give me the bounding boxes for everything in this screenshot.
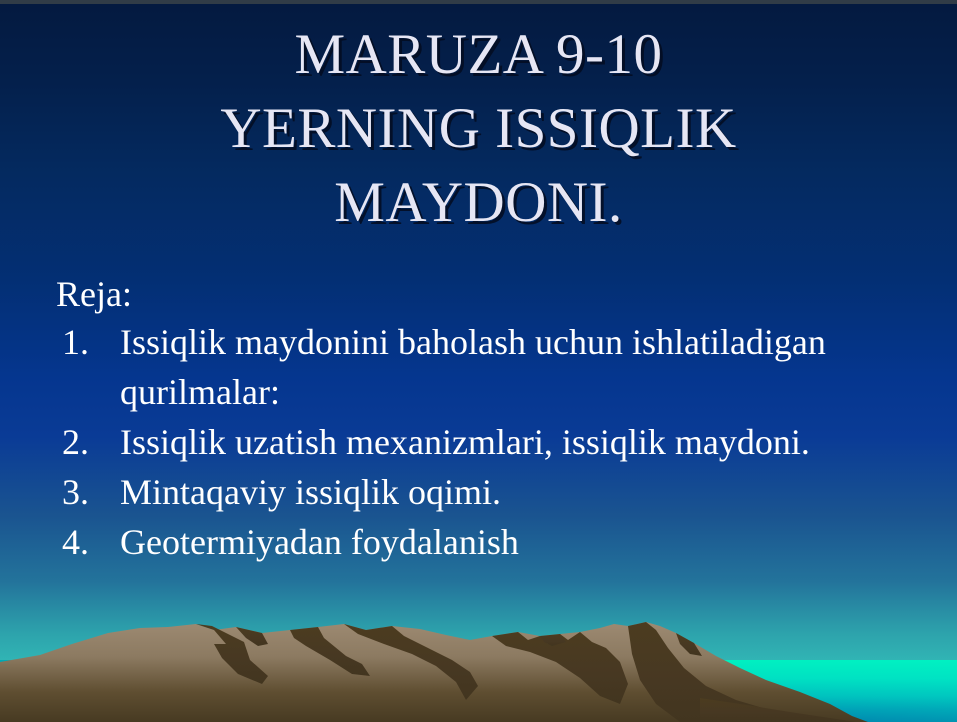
list-item: 3. Mintaqaviy issiqlik oqimi. (56, 467, 886, 517)
list-item-number: 3. (62, 467, 108, 517)
plan-list: 1. Issiqlik maydonini baholash uchun ish… (56, 317, 886, 567)
title-line-2: YERNING ISSIQLIK (0, 92, 957, 166)
mountain-range-silhouette (0, 600, 957, 722)
list-item-text: Issiqlik maydonini baholash uchun ishlat… (120, 317, 886, 417)
list-item: 1. Issiqlik maydonini baholash uchun ish… (56, 317, 886, 417)
slide-body: Reja: 1. Issiqlik maydonini baholash uch… (56, 272, 886, 567)
slide-title: MARUZA 9-10 YERNING ISSIQLIK MAYDONI. (0, 18, 957, 240)
plan-heading: Reja: (56, 272, 886, 317)
list-item-text: Geotermiyadan foydalanish (120, 517, 886, 567)
title-line-1: MARUZA 9-10 (0, 18, 957, 92)
list-item-text: Mintaqaviy issiqlik oqimi. (120, 467, 886, 517)
list-item: 2. Issiqlik uzatish mexanizmlari, issiql… (56, 417, 886, 467)
list-item-number: 1. (62, 317, 108, 367)
title-line-3: MAYDONI. (0, 166, 957, 240)
list-item-number: 4. (62, 517, 108, 567)
list-item: 4. Geotermiyadan foydalanish (56, 517, 886, 567)
presentation-slide: MARUZA 9-10 YERNING ISSIQLIK MAYDONI. Re… (0, 0, 957, 722)
list-item-text: Issiqlik uzatish mexanizmlari, issiqlik … (120, 417, 886, 467)
list-item-number: 2. (62, 417, 108, 467)
